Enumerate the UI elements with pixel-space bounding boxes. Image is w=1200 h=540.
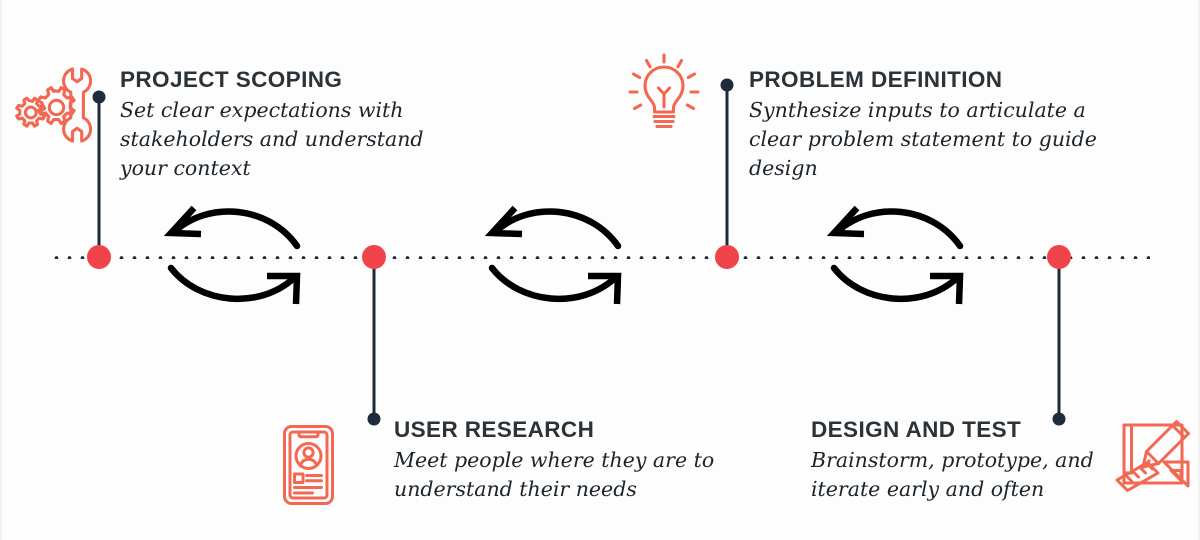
step-title-problem-definition: PROBLEM DEFINITION: [749, 68, 1109, 93]
milestone-marker-user-research[interactable]: [362, 245, 386, 269]
iteration-cycle-arrows-2: [475, 192, 635, 322]
milestone-marker-design-and-test[interactable]: [1047, 245, 1071, 269]
connector-stem-design-and-test: [1058, 257, 1061, 419]
step-title-user-research: USER RESEARCH: [394, 418, 734, 443]
step-block-user-research: USER RESEARCH Meet people where they are…: [394, 418, 734, 504]
milestone-marker-project-scoping[interactable]: [87, 245, 111, 269]
step-description-problem-definition: Synthesize inputs to articulate a clear …: [749, 96, 1109, 183]
step-block-problem-definition: PROBLEM DEFINITION Synthesize inputs to …: [749, 68, 1109, 183]
connector-cap-problem-definition: [721, 79, 734, 92]
step-title-project-scoping: PROJECT SCOPING: [120, 68, 460, 93]
step-description-user-research: Meet people where they are to understand…: [394, 446, 734, 504]
ruler-pencil-square-icon: [1114, 418, 1198, 507]
connector-stem-project-scoping: [98, 97, 101, 257]
step-title-design-and-test: DESIGN AND TEST: [811, 418, 1111, 443]
iteration-cycle-arrows-1: [154, 192, 314, 322]
lightbulb-icon: [626, 52, 702, 137]
step-description-project-scoping: Set clear expectations with stakeholders…: [120, 96, 460, 183]
connector-stem-user-research: [373, 257, 376, 419]
connector-stem-problem-definition: [726, 85, 729, 257]
step-block-design-and-test: DESIGN AND TEST Brainstorm, prototype, a…: [811, 418, 1111, 504]
timeline-infographic: PROJECT SCOPING Set clear expectations w…: [0, 0, 1200, 540]
connector-cap-user-research: [368, 413, 381, 426]
gears-wrench-icon: [10, 62, 92, 155]
step-block-project-scoping: PROJECT SCOPING Set clear expectations w…: [120, 68, 460, 183]
iteration-cycle-arrows-3: [817, 192, 977, 322]
mobile-user-profile-icon: [281, 423, 341, 512]
milestone-marker-problem-definition[interactable]: [715, 245, 739, 269]
connector-cap-project-scoping: [93, 91, 106, 104]
step-description-design-and-test: Brainstorm, prototype, and iterate early…: [811, 446, 1111, 504]
